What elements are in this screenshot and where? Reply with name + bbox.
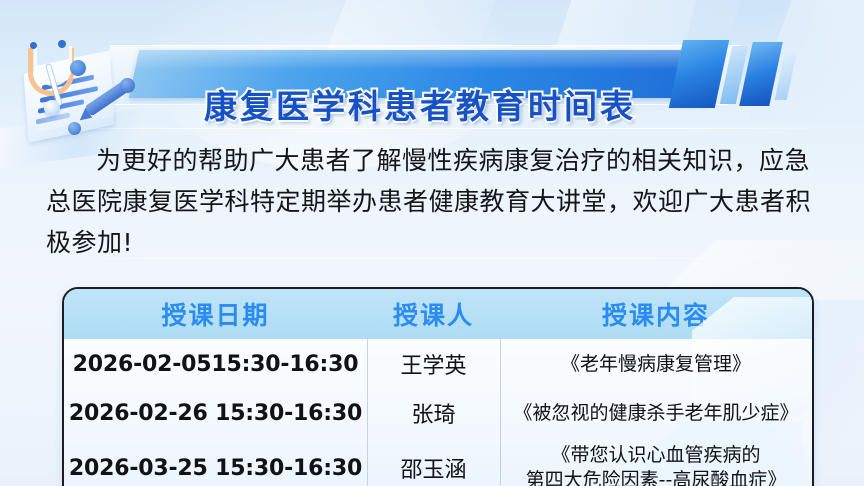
column-divider-1 bbox=[367, 339, 368, 486]
cell-date: 2026-03-25 15:30-16:30 bbox=[64, 437, 367, 486]
intro-paragraph: 为更好的帮助广大患者了解慢性疾病康复治疗的相关知识，应急总医院康复医学科特定期举… bbox=[46, 140, 824, 263]
cell-topic-line: 《带您认识心血管疾病的 bbox=[526, 443, 787, 468]
schedule-table: 授课日期 授课人 授课内容 2026-02-0515:30-16:30 王学英 … bbox=[62, 287, 814, 486]
column-header-person: 授课人 bbox=[367, 289, 500, 339]
stethoscope-chestpiece-icon bbox=[44, 100, 60, 116]
table-row: 2026-02-26 15:30-16:30 张琦 《被忽视的健康杀手老年肌少症… bbox=[64, 389, 812, 437]
column-divider-2 bbox=[500, 339, 501, 486]
cell-person: 张琦 bbox=[367, 389, 500, 437]
cell-date: 2026-02-26 15:30-16:30 bbox=[64, 389, 367, 437]
stethoscope-knob-icon bbox=[70, 60, 86, 76]
page-title: 康复医学科患者教育时间表 bbox=[150, 80, 690, 128]
poster-canvas: 康复医学科患者教育时间表 为更好的帮助广大患者了解慢性疾病康复治疗的相关知识，应… bbox=[0, 0, 864, 486]
column-header-date: 授课日期 bbox=[64, 289, 367, 339]
table-header-row: 授课日期 授课人 授课内容 bbox=[64, 289, 812, 339]
cell-topic: 《带您认识心血管疾病的 第四大危险因素--高尿酸血症》 bbox=[500, 437, 812, 486]
stethoscope-eartip-right-icon bbox=[58, 40, 66, 48]
cell-topic: 《被忽视的健康杀手老年肌少症》 bbox=[500, 389, 812, 437]
cell-date: 2026-02-0515:30-16:30 bbox=[64, 339, 367, 389]
pen-cap-icon bbox=[120, 78, 135, 93]
table-row: 2026-02-0515:30-16:30 王学英 《老年慢病康复管理》 bbox=[64, 339, 812, 389]
cell-person: 王学英 bbox=[367, 339, 500, 389]
stethoscope-eartip-left-icon bbox=[30, 42, 37, 49]
banner-sheen bbox=[132, 50, 702, 70]
cell-topic: 《老年慢病康复管理》 bbox=[500, 339, 812, 389]
cell-topic-line: 《被忽视的健康杀手老年肌少症》 bbox=[513, 401, 798, 426]
column-header-topic: 授课内容 bbox=[500, 289, 812, 339]
cell-topic-line: 第四大危险因素--高尿酸血症》 bbox=[526, 468, 787, 486]
cell-topic-line: 《老年慢病康复管理》 bbox=[561, 352, 751, 377]
cell-person: 邵玉涵 bbox=[367, 437, 500, 486]
stethoscope-clipboard-icon bbox=[6, 34, 138, 138]
background-divider-line-top bbox=[30, 128, 840, 129]
table-body: 2026-02-0515:30-16:30 王学英 《老年慢病康复管理》 202… bbox=[64, 339, 812, 486]
decorative-dot-icon bbox=[68, 122, 81, 135]
table-row: 2026-03-25 15:30-16:30 邵玉涵 《带您认识心血管疾病的 第… bbox=[64, 437, 812, 486]
